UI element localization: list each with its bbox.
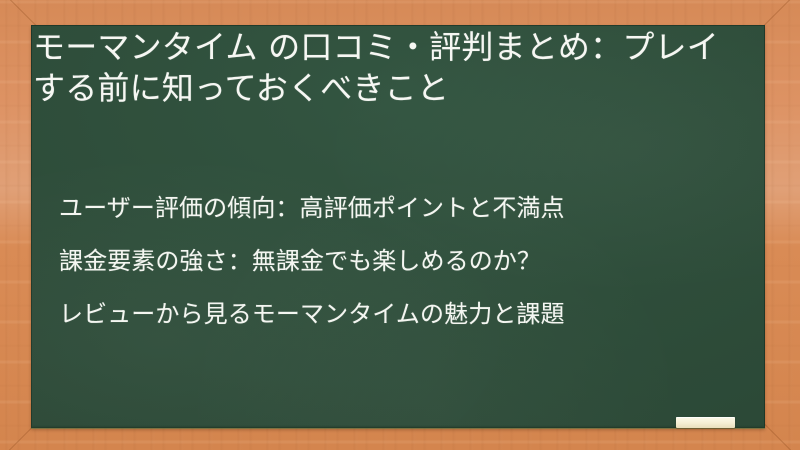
page-title: モーマンタイム の口コミ・評判まとめ：プレイする前に知っておくべきこと [33,27,743,109]
chalkboard-content: モーマンタイム の口コミ・評判まとめ：プレイする前に知っておくべきこと ユーザー… [31,25,765,428]
chalkboard-surface: モーマンタイム の口コミ・評判まとめ：プレイする前に知っておくべきこと ユーザー… [31,25,765,428]
blackboard-card: モーマンタイム の口コミ・評判まとめ：プレイする前に知っておくべきこと ユーザー… [0,0,800,450]
chalk-stick-icon [676,417,735,428]
list-item: レビューから見るモーマンタイムの魅力と課題 [59,301,749,328]
list-item: 課金要素の強さ：無課金でも楽しめるのか？ [59,248,749,275]
list-item: ユーザー評価の傾向：高評価ポイントと不満点 [59,195,749,222]
topic-list: ユーザー評価の傾向：高評価ポイントと不満点 課金要素の強さ：無課金でも楽しめるの… [59,195,749,328]
